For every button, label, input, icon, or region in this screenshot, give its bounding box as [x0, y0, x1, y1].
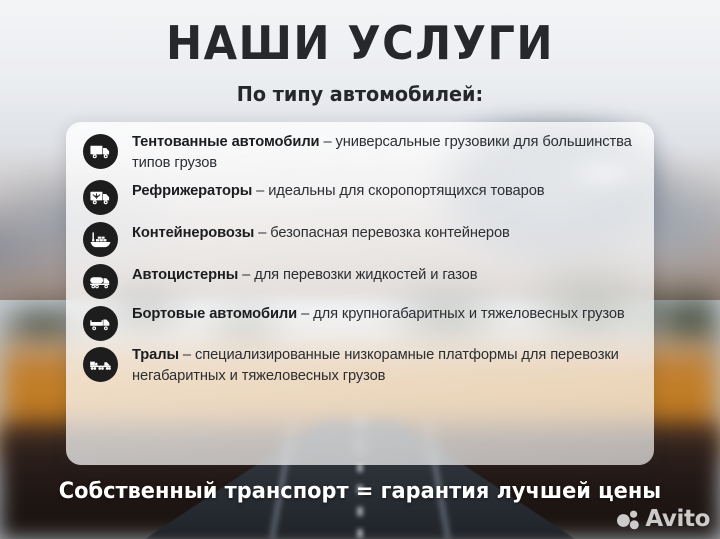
- service-dash: –: [297, 306, 313, 322]
- list-item-text: Тралы – специализированные низкорамные п…: [132, 344, 638, 387]
- refrigerated-truck-icon: [83, 180, 118, 215]
- poster-root: НАШИ УСЛУГИ По типу автомобилей: Т: [0, 0, 720, 539]
- avito-watermark: Avito: [616, 508, 710, 531]
- service-description: специализированные низкорамные платформы…: [132, 347, 619, 384]
- page-title: НАШИ УСЛУГИ: [22, 20, 699, 66]
- container-ship-icon: [83, 222, 118, 257]
- box-truck-icon: [83, 134, 118, 169]
- service-name: Тралы: [132, 347, 179, 363]
- service-name: Тентованные автомобили: [132, 134, 319, 150]
- list-item-text: Рефрижераторы – идеальны для скоропортящ…: [132, 177, 638, 202]
- service-name: Контейнеровозы: [132, 225, 254, 241]
- footer-slogan: Собственный транспорт = гарантия лучшей …: [18, 481, 702, 503]
- list-item-text: Контейнеровозы – безопасная перевозка ко…: [132, 219, 638, 244]
- service-description: для крупногабаритных и тяжеловесных груз…: [313, 306, 624, 322]
- service-description: безопасная перевозка контейнеров: [270, 225, 509, 241]
- avito-dots-logo: [616, 509, 640, 531]
- list-item: Контейнеровозы – безопасная перевозка ко…: [83, 219, 638, 257]
- page-subtitle: По типу автомобилей:: [14, 84, 705, 104]
- service-dash: –: [252, 183, 268, 199]
- list-item: Бортовые автомобили – для крупногабаритн…: [83, 303, 638, 341]
- list-item-text: Автоцистерны – для перевозки жидкостей и…: [132, 261, 638, 286]
- flatbed-truck-icon: [83, 306, 118, 341]
- services-list: Тентованные автомобили – универсальные г…: [66, 122, 654, 465]
- service-name: Рефрижераторы: [132, 183, 252, 199]
- list-item: Рефрижераторы – идеальны для скоропортящ…: [83, 177, 638, 215]
- service-name: Бортовые автомобили: [132, 306, 297, 322]
- list-item: Тралы – специализированные низкорамные п…: [83, 344, 638, 387]
- list-item-text: Бортовые автомобили – для крупногабаритн…: [132, 303, 638, 325]
- tanker-truck-icon: [83, 264, 118, 299]
- list-item-text: Тентованные автомобили – универсальные г…: [132, 131, 638, 174]
- lowboy-trailer-icon: [83, 347, 118, 382]
- service-dash: –: [179, 347, 195, 363]
- service-description: для перевозки жидкостей и газов: [254, 267, 477, 283]
- services-card: Тентованные автомобили – универсальные г…: [66, 122, 654, 465]
- service-dash: –: [254, 225, 270, 241]
- avito-wordmark: Avito: [645, 508, 710, 531]
- list-item: Автоцистерны – для перевозки жидкостей и…: [83, 261, 638, 299]
- service-description: идеальны для скоропортящихся товаров: [268, 183, 544, 199]
- service-dash: –: [238, 267, 254, 283]
- list-item: Тентованные автомобили – универсальные г…: [83, 131, 638, 174]
- service-dash: –: [319, 134, 335, 150]
- service-name: Автоцистерны: [132, 267, 238, 283]
